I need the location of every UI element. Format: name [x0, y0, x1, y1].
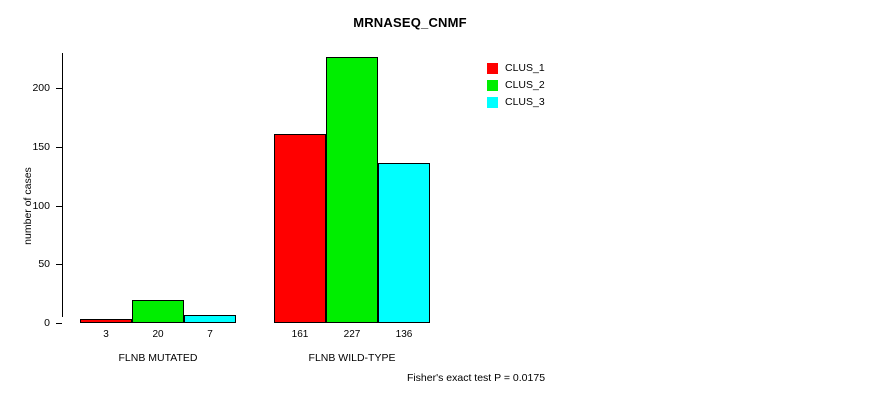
legend: CLUS_1CLUS_2CLUS_3: [487, 60, 545, 111]
chart-root: MRNASEQ_CNMF number of cases 05010015020…: [0, 0, 890, 400]
bar-value-label: 136: [396, 329, 413, 340]
chart-title: MRNASEQ_CNMF: [0, 15, 880, 30]
bar: [132, 300, 184, 323]
y-tick-label: 200: [10, 82, 50, 94]
y-axis-line: [62, 53, 63, 317]
bar-value-label: 161: [292, 329, 309, 340]
legend-item: CLUS_1: [487, 60, 545, 77]
bar-value-label: 7: [207, 329, 213, 340]
fisher-test-annotation: Fisher's exact test P = 0.0175: [0, 372, 890, 384]
y-tick-label: 50: [10, 258, 50, 270]
group-label: FLNB WILD-TYPE: [309, 352, 396, 364]
bar: [274, 134, 326, 323]
legend-label: CLUS_3: [505, 97, 545, 108]
bar-value-label: 20: [152, 329, 163, 340]
plot-area: 050100150200 3207161227136 FLNB MUTATEDF…: [62, 48, 442, 323]
bar: [184, 315, 236, 323]
bar: [378, 163, 430, 323]
legend-label: CLUS_1: [505, 63, 545, 74]
y-tick-label: 150: [10, 141, 50, 153]
y-tick-mark: [56, 88, 62, 89]
bar-value-label: 3: [103, 329, 109, 340]
bar: [80, 319, 132, 323]
legend-swatch-icon: [487, 97, 498, 108]
bar-value-label: 227: [344, 329, 361, 340]
legend-item: CLUS_2: [487, 77, 545, 94]
legend-label: CLUS_2: [505, 80, 545, 91]
y-tick-label: 100: [10, 200, 50, 212]
group-label: FLNB MUTATED: [119, 352, 198, 364]
y-tick-mark: [56, 264, 62, 265]
y-tick-label: 0: [10, 317, 50, 329]
y-tick-mark: [56, 206, 62, 207]
legend-swatch-icon: [487, 80, 498, 91]
bar: [326, 57, 378, 323]
legend-item: CLUS_3: [487, 94, 545, 111]
legend-swatch-icon: [487, 63, 498, 74]
y-tick-mark: [56, 323, 62, 324]
y-tick-mark: [56, 147, 62, 148]
